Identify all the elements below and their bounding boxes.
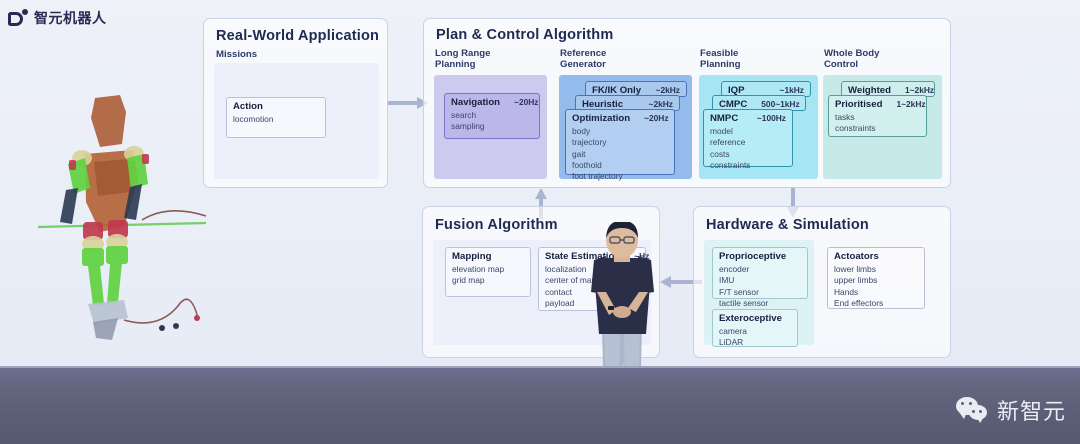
fusion-title: Fusion Algorithm — [435, 217, 558, 233]
card-exteroceptive-items: camera LiDAR — [719, 326, 791, 349]
card-weighted-freq: 1~2kHz — [891, 85, 934, 95]
card-optimization-head: Optimization ~20Hz — [572, 113, 668, 124]
presentation-stage: 智元机器人 — [0, 0, 1080, 444]
card-mapping-items: elevation map grid map — [452, 264, 524, 287]
card-navigation-items: search sampling — [451, 110, 533, 133]
hardware-title: Hardware & Simulation — [706, 217, 869, 233]
card-proprioceptive-items: encoder IMU F/T sensor tactile sensor — [719, 264, 801, 309]
card-prioritised-items: tasks constraints — [835, 112, 920, 135]
card-nmpc-head: NMPC ~100Hz — [710, 113, 786, 124]
card-action[interactable]: Action locomotion — [226, 97, 326, 138]
watermark-text: 新智元 — [997, 394, 1066, 426]
card-nmpc-name: NMPC — [710, 113, 738, 124]
card-action-items: locomotion — [233, 114, 319, 125]
plan-control-title: Plan & Control Algorithm — [436, 27, 613, 43]
card-mapping[interactable]: Mapping elevation map grid map — [445, 247, 531, 297]
card-mapping-name: Mapping — [452, 251, 491, 262]
card-proprioceptive-name: Proprioceptive — [719, 251, 786, 262]
card-exteroceptive-head: Exteroceptive — [719, 313, 791, 324]
card-prioritised-name: Prioritised — [835, 99, 882, 110]
card-actoators-head: Actoators — [834, 251, 918, 262]
brand-name: 智元机器人 — [34, 8, 107, 28]
column-reference-generator: FK/IK Only ~2kHz Heuristic ~2kHz Optimiz… — [559, 75, 692, 179]
card-nmpc-items: model reference costs constraints — [710, 126, 786, 171]
panel-hardware-simulation: Hardware & Simulation Proprioceptive enc… — [693, 206, 951, 358]
card-prioritised-freq: 1~2kHz — [882, 99, 925, 109]
column-long-range-planning: Navigation ~20Hz search sampling — [434, 75, 547, 179]
panel-real-world-application: Real-World Application Missions Action l… — [203, 18, 388, 188]
column-label-whole-body-control: Whole Body Control — [824, 48, 879, 71]
card-action-head: Action — [233, 101, 319, 112]
card-mapping-head: Mapping — [452, 251, 524, 262]
watermark: 新智元 — [956, 394, 1066, 426]
arrow-app-to-plan — [388, 97, 428, 109]
card-prioritised-head: Prioritised 1~2kHz — [835, 99, 920, 110]
missions-label: Missions — [216, 49, 257, 60]
card-nmpc-freq: ~100Hz — [743, 113, 786, 123]
card-optimization-items: body trajectory gait foothold foot traje… — [572, 126, 668, 183]
card-proprioceptive[interactable]: Proprioceptive encoder IMU F/T sensor ta… — [712, 247, 808, 299]
card-navigation[interactable]: Navigation ~20Hz search sampling — [444, 93, 540, 139]
card-navigation-freq: ~20Hz — [500, 97, 538, 107]
card-action-name: Action — [233, 101, 263, 112]
column-feasible-planning: IQP ~1kHz CMPC 500~1kHz NMPC ~100Hz mode… — [699, 75, 818, 179]
card-cmpc-freq: 500~1kHz — [747, 99, 799, 109]
panel-plan-control-algorithm: Plan & Control Algorithm Long Range Plan… — [423, 18, 951, 188]
card-exteroceptive-name: Exteroceptive — [719, 313, 782, 324]
card-optimization[interactable]: Optimization ~20Hz body trajectory gait … — [565, 109, 675, 175]
card-actoators[interactable]: Actoators lower limbs upper limbs Hands … — [827, 247, 925, 309]
card-exteroceptive[interactable]: Exteroceptive camera LiDAR — [712, 309, 798, 347]
brand-logo: 智元机器人 — [8, 8, 107, 28]
stage-floor — [0, 366, 1080, 444]
wechat-icon — [956, 397, 990, 423]
card-optimization-freq: ~20Hz — [630, 113, 668, 123]
card-navigation-head: Navigation ~20Hz — [451, 97, 533, 108]
real-world-title: Real-World Application — [216, 28, 379, 44]
card-optimization-name: Optimization — [572, 113, 630, 124]
column-label-feasible-planning: Feasible Planning — [700, 48, 741, 71]
card-nmpc[interactable]: NMPC ~100Hz model reference costs constr… — [703, 109, 793, 167]
column-whole-body-control: Weighted 1~2kHz Prioritised 1~2kHz tasks… — [823, 75, 942, 179]
card-fk-ik-only-freq: ~2kHz — [642, 85, 680, 95]
card-prioritised[interactable]: Prioritised 1~2kHz tasks constraints — [828, 95, 927, 137]
card-actoators-name: Actoators — [834, 251, 879, 262]
card-proprioceptive-head: Proprioceptive — [719, 251, 801, 262]
column-label-reference-generator: Reference Generator — [560, 48, 606, 71]
column-label-long-range-planning: Long Range Planning — [435, 48, 490, 71]
humanoid-robot-visualization — [38, 92, 208, 350]
agibot-logo-icon — [8, 9, 28, 27]
card-heuristic-freq: ~2kHz — [635, 99, 673, 109]
card-iqp-freq: ~1kHz — [766, 85, 804, 95]
card-navigation-name: Navigation — [451, 97, 500, 108]
card-actoators-items: lower limbs upper limbs Hands End effect… — [834, 264, 918, 309]
